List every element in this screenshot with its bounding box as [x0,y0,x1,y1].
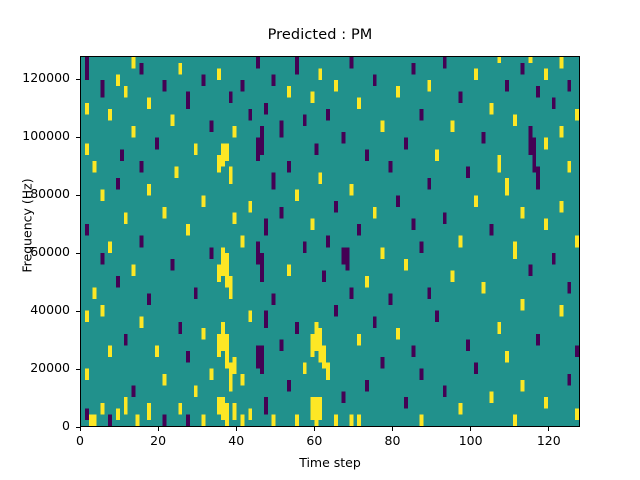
chart-title: Predicted : PM [0,27,640,43]
heatmap-cell [163,414,167,426]
heatmap-cell [139,236,143,248]
heatmap-cell [427,80,431,92]
heatmap-cell [575,409,579,421]
heatmap-cell [314,143,318,155]
heatmap-cell [458,92,462,104]
heatmap-cell [466,167,470,179]
heatmap-cell [365,149,369,161]
heatmap-cell [342,247,346,264]
heatmap-cell [326,363,330,380]
heatmap-cell [334,414,338,426]
y-tick-label: 60000 [30,244,70,259]
heatmap-cell [124,213,128,225]
heatmap-cell [225,253,229,288]
y-tick-label: 0 [62,418,70,433]
heatmap-cell [108,242,112,254]
heatmap-cell [560,126,564,138]
x-tick-mark [548,427,549,431]
heatmap-cell [303,363,307,375]
heatmap-cell [202,328,206,340]
heatmap-cell [100,305,104,317]
heatmap-cell [241,414,245,426]
heatmap-cell [233,126,237,138]
heatmap-cell [334,80,338,92]
heatmap-cell [311,334,315,357]
heatmap-cell [326,109,330,121]
heatmap-cell [482,282,486,294]
heatmap-cell [225,403,229,426]
heatmap-cell [194,288,198,300]
heatmap-cell [521,207,525,219]
heatmap-cell [435,311,439,323]
heatmap-cell [209,247,213,259]
heatmap-cell [342,391,346,403]
heatmap-cell [217,265,221,282]
heatmap-cell [388,161,392,173]
heatmap-cell [482,132,486,144]
x-axis-label: Time step [80,455,580,470]
heatmap-cell [474,363,478,375]
heatmap-cell [287,86,291,98]
x-tick-label: 120 [519,433,579,448]
heatmap-cell [256,57,260,69]
heatmap-cell [505,80,509,92]
heatmap-cell [135,414,139,426]
heatmap-cell [521,380,525,392]
heatmap-cell [575,345,579,357]
x-tick-mark [314,427,315,431]
heatmap-cell [388,293,392,305]
heatmap-cell [241,374,245,386]
heatmap-cell [174,167,178,179]
heatmap-cell [412,345,416,357]
heatmap-cell [287,161,291,173]
heatmap-cell [287,380,291,392]
heatmap-cell [544,397,548,409]
heatmap-cell [85,409,89,421]
heatmap-cell [194,386,198,398]
heatmap-cell [93,288,97,300]
heatmap-cell [451,120,455,132]
heatmap-cell [311,92,315,104]
heatmap-cell [264,218,268,235]
heatmap-cell [124,397,128,414]
heatmap-cell [458,403,462,415]
heatmap-cell [497,57,501,63]
heatmap-cell [318,397,322,420]
y-tick-mark [76,369,80,370]
heatmap-cell [412,63,416,75]
heatmap-cell [139,316,143,328]
heatmap-cell [209,368,213,380]
heatmap-cell [314,397,318,426]
heatmap-cell [334,201,338,213]
heatmap-cell [116,74,120,86]
heatmap-cell [396,328,400,340]
x-tick-mark [392,427,393,431]
heatmap-cell [334,305,338,317]
heatmap-cell [178,403,182,415]
heatmap-cell [132,57,136,69]
heatmap-cell [260,345,264,374]
heatmap-cell [349,288,353,300]
heatmap-cell [139,161,143,173]
heatmap-cell [474,69,478,81]
heatmap-cell [100,253,104,265]
y-tick-mark [76,311,80,312]
heatmap-cell [295,190,299,202]
heatmap-cell [241,80,245,92]
heatmap-cell [170,115,174,127]
heatmap-cell [521,299,525,311]
heatmap-cell [311,218,315,230]
x-tick-label: 100 [441,433,501,448]
heatmap-cell [186,224,190,236]
heatmap-cell [116,178,120,190]
heatmap-cell [349,414,353,426]
heatmap-cell [303,115,307,127]
heatmap-cell [256,345,260,368]
heatmap-cell [427,288,431,300]
heatmap-cell [342,132,346,144]
y-tick-label: 120000 [22,70,70,85]
heatmap-cell [427,178,431,190]
heatmap-cell [116,409,120,421]
heatmap-cell [513,115,517,127]
heatmap-cell [178,322,182,334]
heatmap-cell [567,161,571,173]
heatmap-cell [322,345,326,368]
heatmap-cell [357,414,361,426]
heatmap-cell [221,397,225,420]
heatmap-cell [217,155,221,172]
heatmap-cell [221,143,225,166]
heatmap-cell [365,380,369,392]
heatmap-cell [474,195,478,207]
heatmap-cell [318,172,322,184]
heatmap-cell [295,414,299,426]
heatmap-cell [567,80,571,92]
heatmap-cell [513,242,517,259]
heatmap-cell [381,247,385,259]
heatmap-cell [552,97,556,109]
heatmap-cell [202,195,206,207]
heatmap-cell [396,195,400,207]
heatmap-cell [202,414,206,426]
heatmap-cell [279,340,283,352]
heatmap-cell [85,57,89,80]
x-tick-label: 60 [284,433,344,448]
heatmap-cell [147,403,151,420]
heatmap-cell [108,109,112,121]
heatmap-cell [552,253,556,265]
heatmap-image [81,57,579,426]
heatmap-cell [85,311,89,323]
heatmap-cell [349,57,353,69]
heatmap-cell [381,120,385,132]
heatmap-cell [451,270,455,282]
heatmap-cell [248,109,252,121]
heatmap-cell [322,270,326,282]
heatmap-cell [490,103,494,115]
heatmap-cell [260,253,264,282]
heatmap-cell [264,311,268,328]
heatmap-cell [536,86,540,98]
heatmap-cell [357,224,361,236]
heatmap-cell [132,126,136,138]
y-tick-label: 40000 [30,302,70,317]
y-tick-label: 100000 [22,128,70,143]
heatmap-cell [513,414,517,426]
y-tick-label: 80000 [30,186,70,201]
heatmap-cell [443,57,447,69]
heatmap-cell [560,57,564,69]
heatmap-cell [528,265,532,277]
heatmap-cell [536,334,540,346]
heatmap-cell [225,334,229,369]
heatmap-cell [575,236,579,248]
heatmap-cell [419,109,423,121]
heatmap-cell [404,259,408,271]
x-tick-mark [80,427,81,431]
heatmap-cell [314,322,318,351]
heatmap-cell [521,63,525,75]
heatmap-cell [279,207,283,219]
heatmap-cell [295,322,299,334]
heatmap-cell [163,374,167,386]
heatmap-cell [85,143,89,155]
heatmap-cell [178,63,182,75]
heatmap-cell [229,276,233,299]
heatmap-cell [186,414,190,426]
heatmap-cell [287,265,291,277]
heatmap-cell [225,143,229,160]
y-tick-mark [76,253,80,254]
heatmap-cell [229,92,233,104]
heatmap-cell [536,167,540,190]
heatmap-cell [396,86,400,98]
heatmap-cell [532,138,536,173]
heatmap-cell [544,138,548,150]
heatmap-cell [357,334,361,346]
heatmap-cell [248,311,252,323]
heatmap-cell [303,242,307,254]
heatmap-cell [560,201,564,213]
heatmap-cell [147,184,151,196]
heatmap-cell [233,403,237,420]
heatmap-cell [229,363,233,392]
heatmap-cell [89,414,93,426]
heatmap-cell [373,316,377,328]
heatmap-cell [326,236,330,248]
heatmap-cell [221,247,225,276]
x-tick-mark [470,427,471,431]
x-tick-mark [158,427,159,431]
heatmap-cell [186,92,190,109]
heatmap-cell [279,120,283,137]
heatmap-cell [311,397,315,420]
heatmap-cell [497,322,501,334]
heatmap-cell [241,236,245,248]
heatmap-cell [264,103,268,115]
heatmap-cell [357,97,361,109]
x-tick-label: 0 [50,433,110,448]
heatmap-cell [318,328,322,363]
heatmap-cell [170,259,174,271]
matplotlib-figure: Predicted : PM Frequency (Hz) Time step … [0,0,640,480]
y-tick-label: 20000 [30,360,70,375]
y-tick-mark [76,137,80,138]
heatmap-cell [155,345,159,357]
heatmap-cell [528,126,532,155]
heatmap-cell [116,276,120,288]
heatmap-cell [202,74,206,86]
heatmap-cell [217,334,221,357]
heatmap-cell [575,109,579,121]
heatmap-cell [155,138,159,150]
heatmap-cell [497,155,501,172]
heatmap-cell [295,57,299,74]
heatmap-cell [404,138,408,150]
x-tick-label: 20 [128,433,188,448]
heatmap-cell [132,386,136,398]
heatmap-cell [233,357,237,374]
heatmap-cell [419,368,423,380]
heatmap-cell [373,74,377,86]
heatmap-cell [272,74,276,86]
heatmap-cell [100,403,104,415]
heatmap-cell [85,103,89,115]
heatmap-cell [139,63,143,75]
heatmap-cell [443,386,447,398]
heatmap-cell [85,368,89,380]
heatmap-cell [194,143,198,155]
heatmap-cell [528,57,532,63]
x-tick-mark [236,427,237,431]
heatmap-cell [544,69,548,81]
heatmap-cell [544,218,548,230]
heatmap-cell [505,178,509,195]
heatmap-cell [490,224,494,236]
heatmap-cell [404,397,408,409]
heatmap-cell [505,351,509,363]
heatmap-cell [229,167,233,184]
heatmap-axes[interactable] [80,56,580,427]
heatmap-cell [443,213,447,225]
heatmap-cell [346,247,350,270]
heatmap-cell [412,218,416,230]
heatmap-cell [272,414,276,426]
heatmap-cell [349,184,353,196]
heatmap-cell [108,345,112,357]
heatmap-cell [217,69,221,81]
heatmap-cell [248,201,252,213]
heatmap-cell [124,334,128,346]
heatmap-cell [365,276,369,288]
heatmap-cell [163,80,167,92]
y-tick-mark [76,195,80,196]
heatmap-cell [147,97,151,109]
heatmap-cell [264,397,268,414]
heatmap-cell [100,80,104,97]
y-tick-mark [76,79,80,80]
heatmap-cell [256,138,260,161]
heatmap-cell [248,409,252,421]
heatmap-cell [260,126,264,155]
heatmap-cell [458,236,462,248]
heatmap-cell [567,374,571,386]
heatmap-cell [93,161,97,173]
heatmap-cell [93,414,97,426]
heatmap-cell [419,414,423,426]
heatmap-cell [132,265,136,277]
heatmap-cell [381,357,385,369]
heatmap-cell [217,397,221,414]
heatmap-cell [272,293,276,305]
heatmap-cell [85,224,89,236]
heatmap-cell [560,305,564,317]
x-tick-label: 40 [206,433,266,448]
heatmap-cell [373,207,377,219]
heatmap-cell [256,242,260,265]
heatmap-cell [209,120,213,132]
heatmap-cell [233,213,237,225]
heatmap-cell [100,190,104,202]
heatmap-cell [318,69,322,81]
heatmap-cell [147,293,151,305]
heatmap-cell [108,414,112,426]
heatmap-cell [186,351,190,363]
heatmap-cell [466,340,470,352]
heatmap-cell [163,207,167,219]
heatmap-cell [567,282,571,294]
heatmap-cell [435,149,439,161]
x-tick-label: 80 [363,433,423,448]
heatmap-cell [272,172,276,189]
heatmap-cell [221,322,225,351]
heatmap-cell [490,391,494,403]
heatmap-cell [419,242,423,254]
heatmap-cell [124,86,128,98]
heatmap-cell [120,149,124,161]
